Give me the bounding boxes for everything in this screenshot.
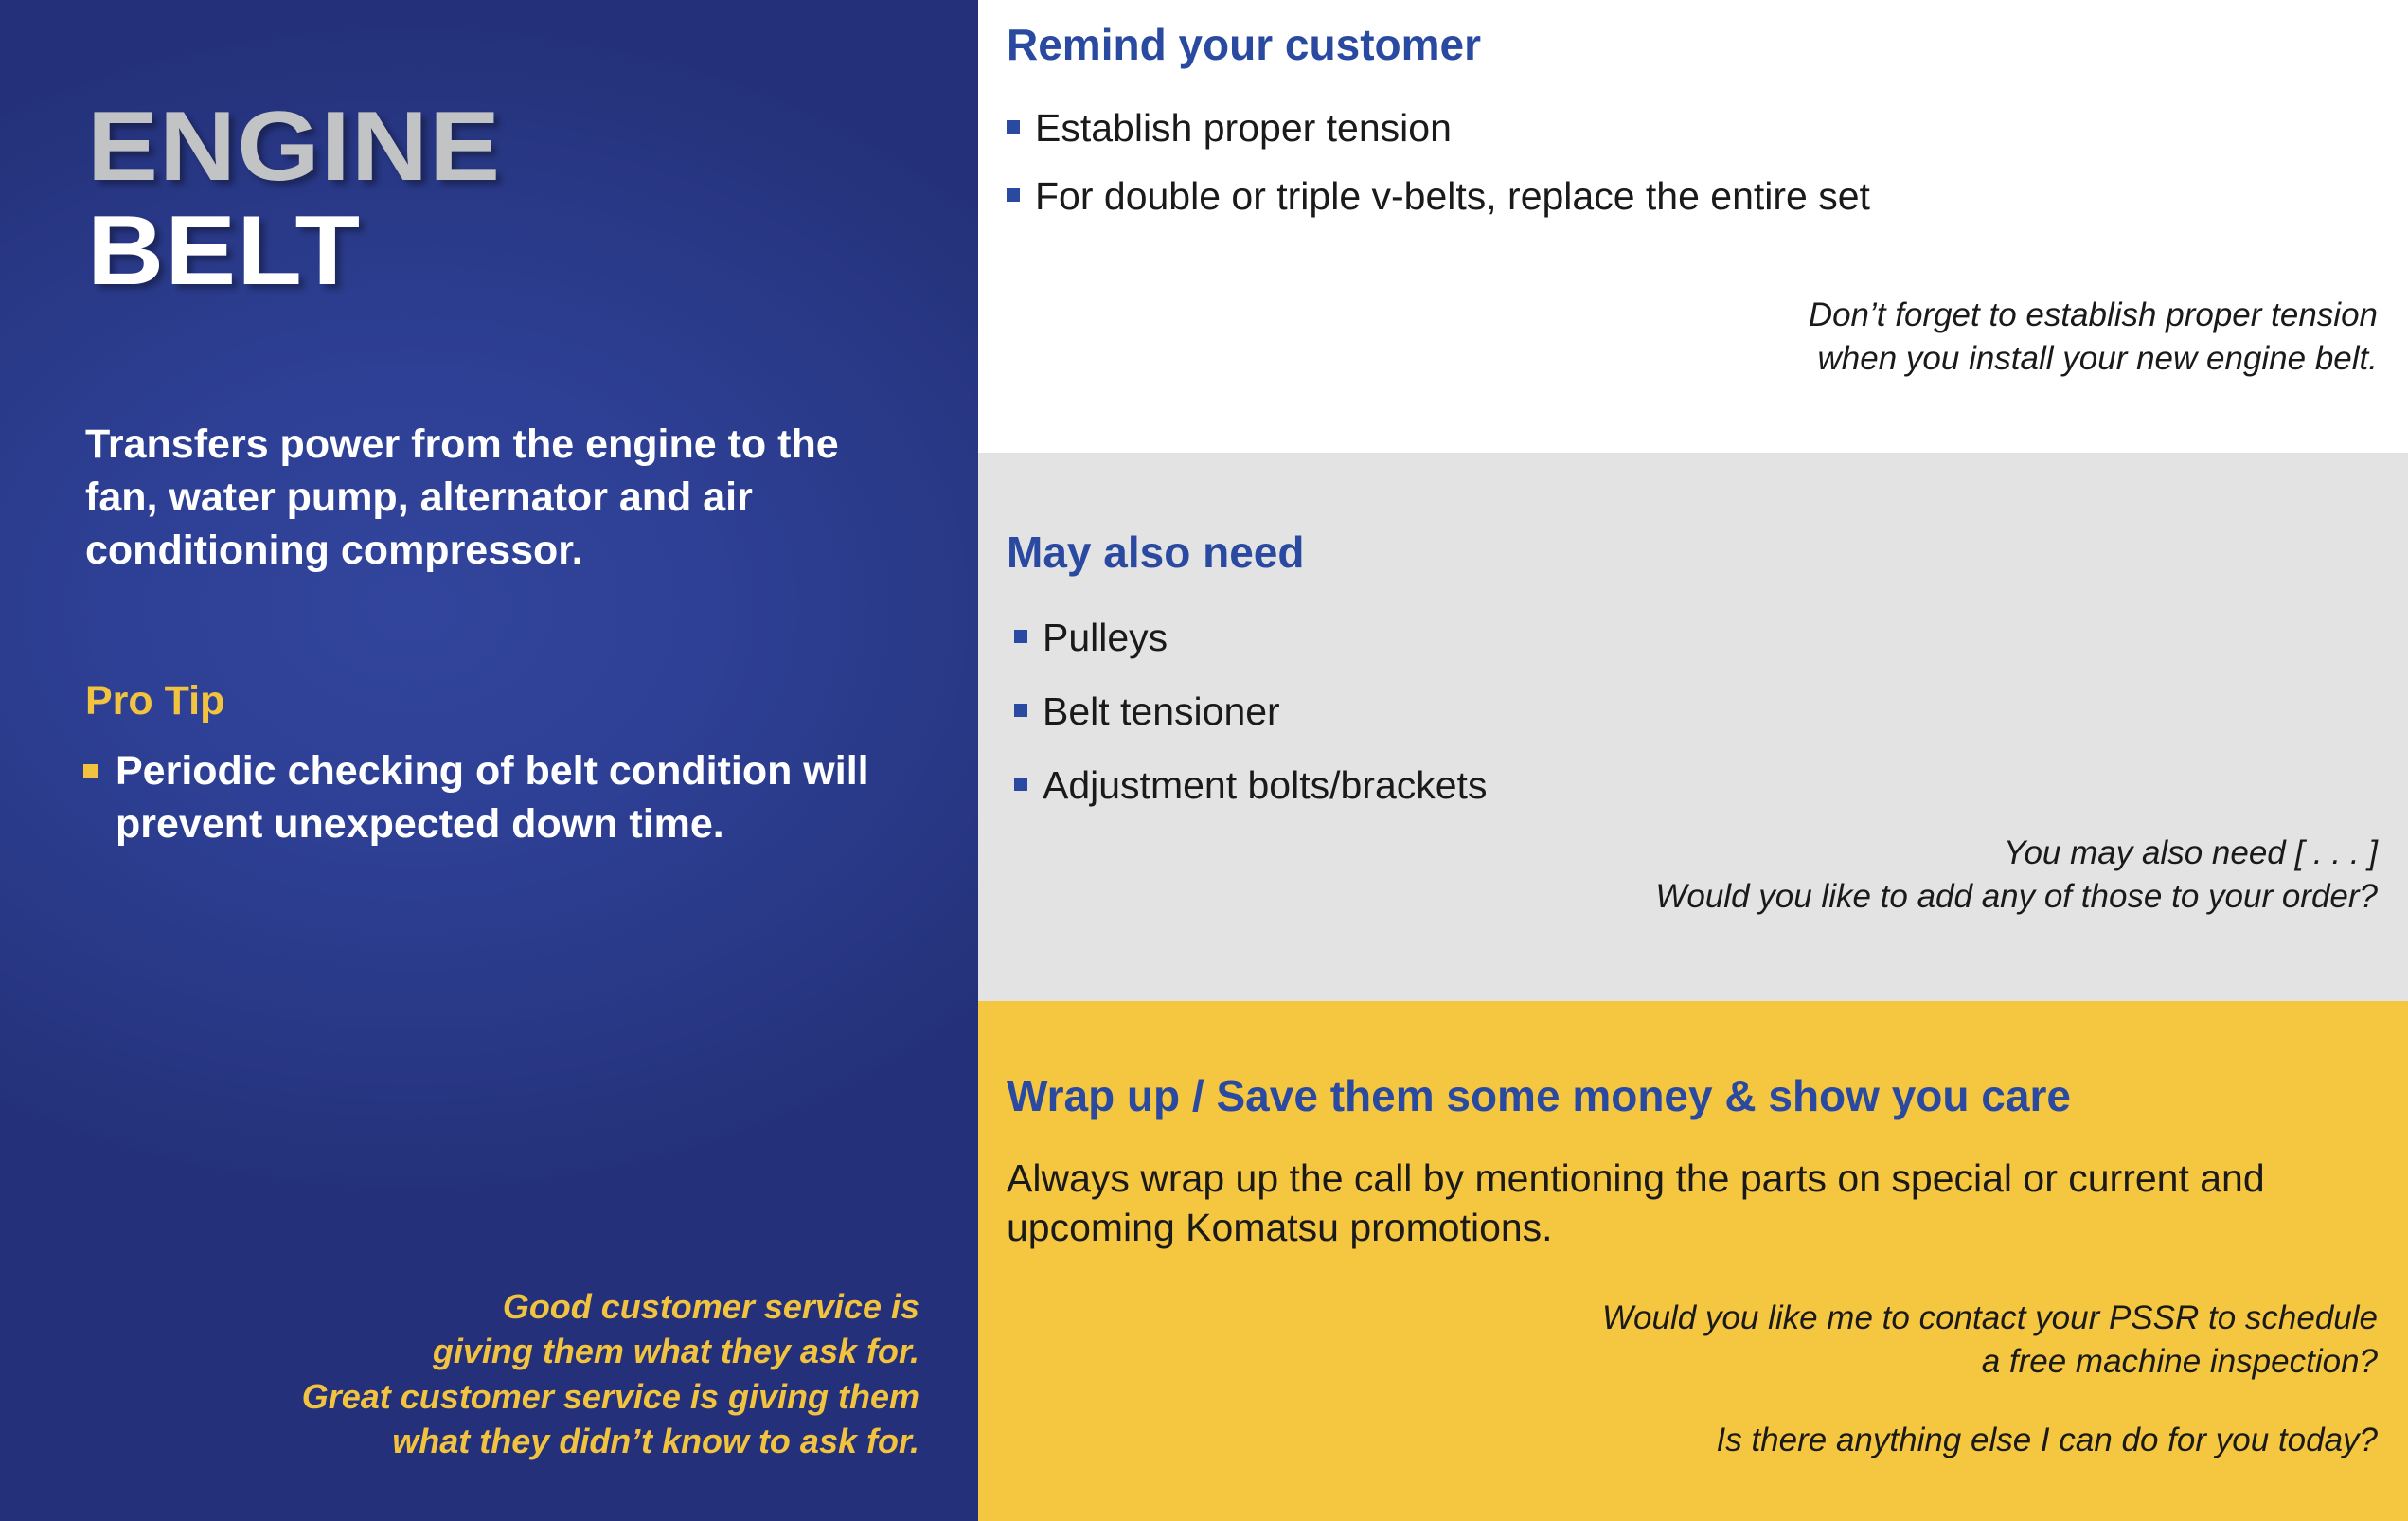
may-also-need-bullet-text: Adjustment bolts/brackets [1043,763,1487,807]
may-also-need-heading: May also need [1007,528,1304,577]
list-item: Periodic checking of belt condition will… [83,745,917,851]
script-line: Would you like me to contact your PSSR t… [1109,1297,2378,1340]
slide-canvas: ENGINE BELT Transfers power from the eng… [0,0,2408,1521]
remind-script-text: Don’t forget to establish proper tension… [1147,294,2378,380]
section-may-also-need: May also need Pulleys Belt tensioner Adj… [978,453,2408,1001]
remind-bullet-list: Establish proper tension For double or t… [1007,104,2351,241]
wrap-up-body-text: Always wrap up the call by mentioning th… [1007,1154,2351,1253]
list-item: Establish proper tension [1007,104,2351,152]
title-line-belt: BELT [87,206,987,297]
left-info-panel: ENGINE BELT Transfers power from the eng… [0,0,978,1521]
quote-line: Great customer service is giving them [181,1374,919,1420]
list-item: Belt tensioner [1014,688,2340,735]
section-wrap-up: Wrap up / Save them some money & show yo… [978,1001,2408,1521]
script-line: Would you like to add any of those to yo… [1128,875,2378,919]
list-item: Adjustment bolts/brackets [1014,761,2340,809]
square-bullet-icon [1014,704,1027,717]
may-also-need-script-text: You may also need [ . . . ] Would you li… [1128,832,2378,918]
list-item: Pulleys [1014,614,2340,661]
square-bullet-icon [1007,120,1020,134]
script-line: Don’t forget to establish proper tension [1147,294,2378,337]
section-remind-your-customer: Remind your customer Establish proper te… [978,0,2408,453]
title-line-engine: ENGINE [87,102,987,193]
remind-bullet-text: Establish proper tension [1035,106,1452,150]
page-title: ENGINE BELT [87,102,920,296]
remind-bullet-text: For double or triple v-belts, replace th… [1035,174,1870,218]
script-line: Is there anything else I can do for you … [1109,1419,2378,1462]
pro-tip-heading: Pro Tip [85,677,224,726]
may-also-need-bullet-text: Pulleys [1043,616,1168,659]
right-content-column: Remind your customer Establish proper te… [978,0,2408,1521]
square-bullet-icon [1014,778,1027,791]
square-bullet-icon [83,764,98,778]
quote-line: what they didn’t know to ask for. [181,1419,919,1464]
square-bullet-icon [1014,630,1027,643]
wrap-up-heading: Wrap up / Save them some money & show yo… [1007,1072,2071,1120]
wrap-up-script-text: Would you like me to contact your PSSR t… [1109,1297,2378,1462]
script-line: when you install your new engine belt. [1147,337,2378,381]
pro-tip-list: Periodic checking of belt condition will… [83,745,917,851]
pro-tip-item-text: Periodic checking of belt condition will… [116,748,869,847]
script-block: Is there anything else I can do for you … [1109,1419,2378,1462]
may-also-need-bullet-list: Pulleys Belt tensioner Adjustment bolts/… [1014,614,2340,835]
script-line: You may also need [ . . . ] [1128,832,2378,875]
script-line: a free machine inspection? [1109,1340,2378,1384]
quote-line: Good customer service is [181,1284,919,1330]
script-block: Would you like me to contact your PSSR t… [1109,1297,2378,1383]
part-description: Transfers power from the engine to the f… [85,419,900,578]
customer-service-quote: Good customer service is giving them wha… [181,1284,919,1464]
square-bullet-icon [1007,188,1020,202]
may-also-need-bullet-text: Belt tensioner [1043,689,1280,733]
remind-heading: Remind your customer [1007,21,1481,69]
quote-line: giving them what they ask for. [181,1329,919,1374]
list-item: For double or triple v-belts, replace th… [1007,172,2351,220]
